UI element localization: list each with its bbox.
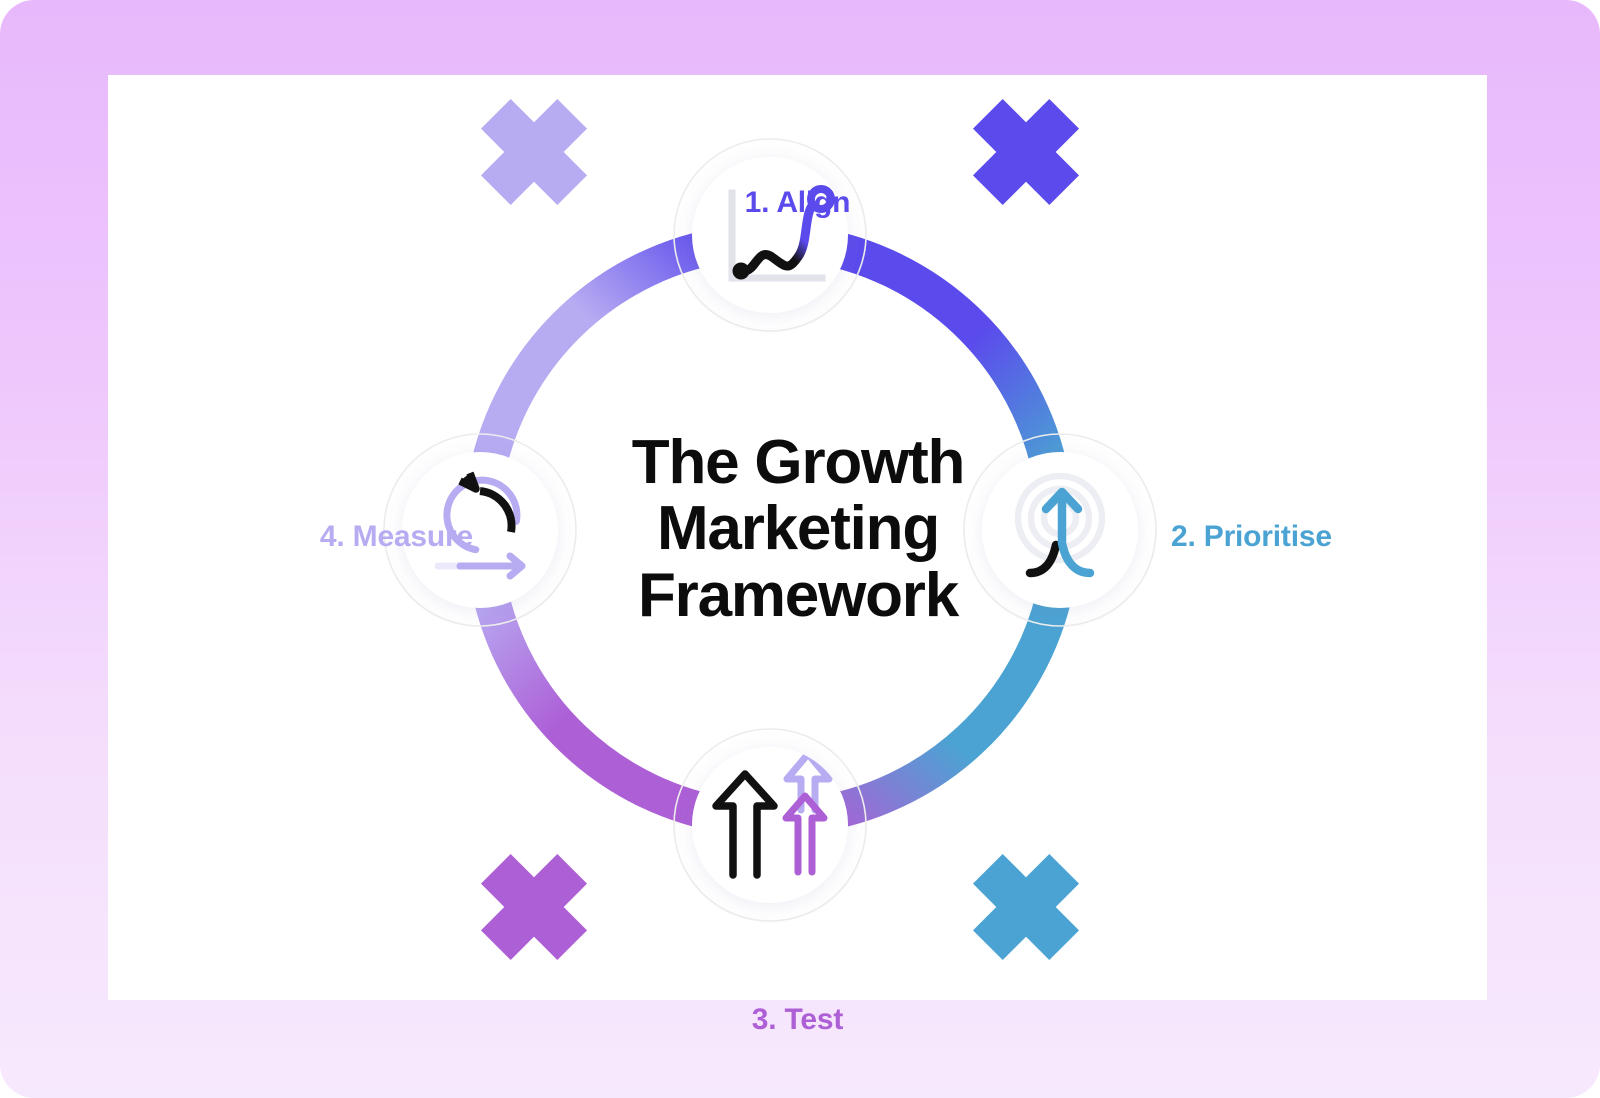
- white-card: The Growth Marketing Framework 1. Align …: [108, 75, 1487, 1000]
- align-node-circle: [692, 157, 848, 313]
- step-label-measure: 4. Measure: [193, 522, 473, 552]
- node-align[interactable]: [674, 139, 866, 331]
- step-label-prioritise: 2. Prioritise: [1171, 522, 1332, 552]
- title-line-1: The Growth: [498, 430, 1098, 496]
- arc-align-to-prioritise: [808, 99, 1079, 475]
- arrowhead-test-to-measure: [481, 854, 587, 960]
- arc-test-to-measure: [481, 587, 730, 960]
- node-test[interactable]: [674, 729, 866, 921]
- arrowhead-prioritise-to-test: [973, 854, 1079, 960]
- arc-measure-to-align: [481, 99, 729, 473]
- arc-prioritise-to-test: [813, 587, 1079, 960]
- step-label-align: 1. Align: [108, 188, 1487, 218]
- title-line-3: Framework: [498, 563, 1098, 629]
- page-title: The Growth Marketing Framework: [498, 430, 1098, 629]
- step-label-test: 3. Test: [108, 1005, 1487, 1035]
- title-line-2: Marketing: [498, 496, 1098, 562]
- diagram-canvas: The Growth Marketing Framework 1. Align …: [0, 0, 1600, 1098]
